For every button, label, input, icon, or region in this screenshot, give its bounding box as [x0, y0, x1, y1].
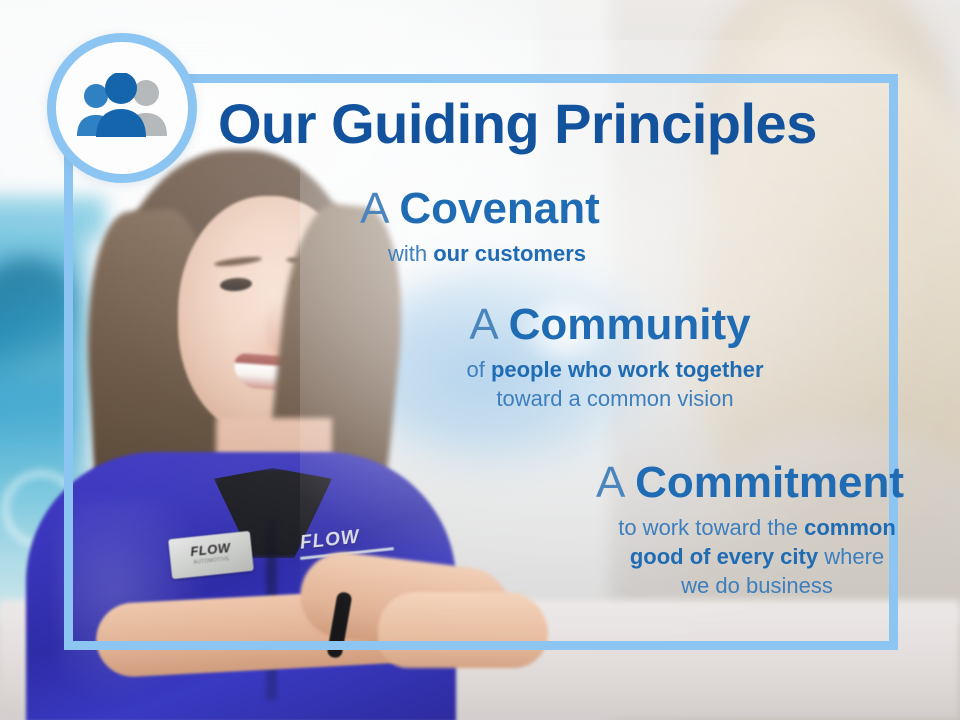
subject-clasped-hands — [378, 592, 548, 668]
subtext-emphasis: good of every city — [630, 544, 818, 569]
principle-commitment-heading: A Commitment — [270, 460, 960, 507]
guiding-principles-graphic: FLOW AUTOMOTIVE FLOW — [0, 0, 960, 720]
people-group-badge — [47, 33, 197, 183]
people-group-icon — [70, 73, 174, 143]
principle-community: A Community of people who work togethert… — [0, 302, 960, 413]
subtext-run: with — [388, 241, 433, 266]
subtext-run: toward a common vision — [496, 386, 733, 411]
subtext-emphasis: people who work together — [491, 357, 764, 382]
principle-commitment-subtext: to work toward the commongood of every c… — [270, 513, 960, 600]
principle-covenant: A Covenant with our customers — [0, 186, 960, 268]
subtext-run: we do business — [681, 573, 833, 598]
principle-commitment-lead: A — [596, 458, 623, 507]
subtext-emphasis: common — [804, 515, 896, 540]
subtext-line: toward a common vision — [140, 384, 960, 413]
principle-commitment-word: Commitment — [635, 458, 904, 507]
subtext-run: to work toward the — [618, 515, 804, 540]
principle-covenant-word: Covenant — [399, 184, 599, 233]
principle-community-word: Community — [509, 300, 751, 349]
principle-covenant-lead: A — [360, 184, 387, 233]
principle-community-subtext: of people who work togethertoward a comm… — [130, 355, 960, 413]
principle-community-heading: A Community — [130, 302, 960, 349]
subtext-line: with our customers — [14, 239, 960, 268]
principle-community-lead: A — [469, 300, 496, 349]
subtext-line: we do business — [284, 571, 960, 600]
page-title: Our Guiding Principles — [218, 96, 898, 152]
subtext-line: of people who work together — [140, 355, 960, 384]
principle-commitment: A Commitment to work toward the commongo… — [0, 460, 960, 600]
principle-covenant-heading: A Covenant — [0, 186, 960, 233]
subtext-run: of — [466, 357, 490, 382]
subtext-line: to work toward the common — [284, 513, 960, 542]
subtext-emphasis: our customers — [433, 241, 586, 266]
principle-covenant-subtext: with our customers — [0, 239, 960, 268]
subtext-line: good of every city where — [284, 542, 960, 571]
subtext-run: where — [818, 544, 884, 569]
